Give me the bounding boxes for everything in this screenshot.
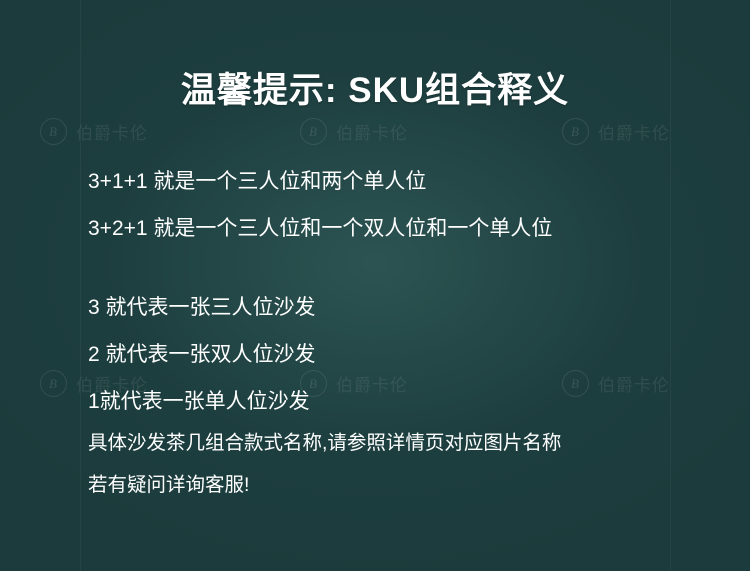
info-line: 若有疑问详询客服! (88, 476, 680, 496)
info-line: 2 就代表一张双人位沙发 (88, 344, 680, 365)
info-line: 3+1+1 就是一个三人位和两个单人位 (88, 171, 680, 192)
info-line: 1就代表一张单人位沙发 (88, 391, 680, 412)
info-line: 3 就代表一张三人位沙发 (88, 297, 680, 318)
promo-poster: B 伯爵卡伦 B 伯爵卡伦 B 伯爵卡伦 B 伯爵卡伦 B 伯爵卡伦 B 伯爵卡… (0, 0, 750, 571)
info-line: 具体沙发茶几组合款式名称,请参照详情页对应图片名称 (88, 434, 680, 454)
page-title: 温馨提示: SKU组合释义 (70, 0, 680, 113)
info-line: 3+2+1 就是一个三人位和一个双人位和一个单人位 (88, 218, 680, 239)
poster-content: 温馨提示: SKU组合释义 3+1+1 就是一个三人位和两个单人位 3+2+1 … (0, 0, 750, 495)
info-line-list: 3+1+1 就是一个三人位和两个单人位 3+2+1 就是一个三人位和一个双人位和… (70, 171, 680, 495)
